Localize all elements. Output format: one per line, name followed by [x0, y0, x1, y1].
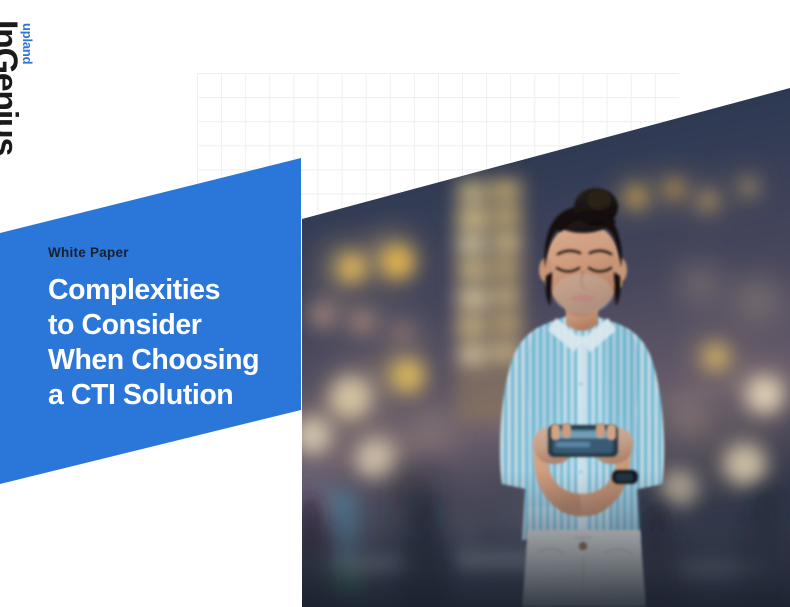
- page-title: Complexities to Consider When Choosing a…: [48, 273, 298, 413]
- ingenius-wordmark: InGenius: [0, 20, 22, 155]
- title-line-1: Complexities: [48, 273, 298, 308]
- brand-logo-rotation: upland InGenius: [0, 20, 36, 190]
- title-line-2: to Consider: [48, 308, 298, 343]
- headline-block: White Paper Complexities to Consider Whe…: [48, 246, 298, 413]
- eyebrow-label: White Paper: [48, 246, 298, 261]
- brand-logo-lockup: upland InGenius: [0, 20, 36, 190]
- title-line-3: When Choosing: [48, 343, 298, 378]
- title-line-4: a CTI Solution: [48, 378, 298, 413]
- brand-logo[interactable]: upland InGenius: [36, 20, 98, 190]
- white-paper-cover: upland InGenius White Paper Complexities…: [0, 0, 790, 607]
